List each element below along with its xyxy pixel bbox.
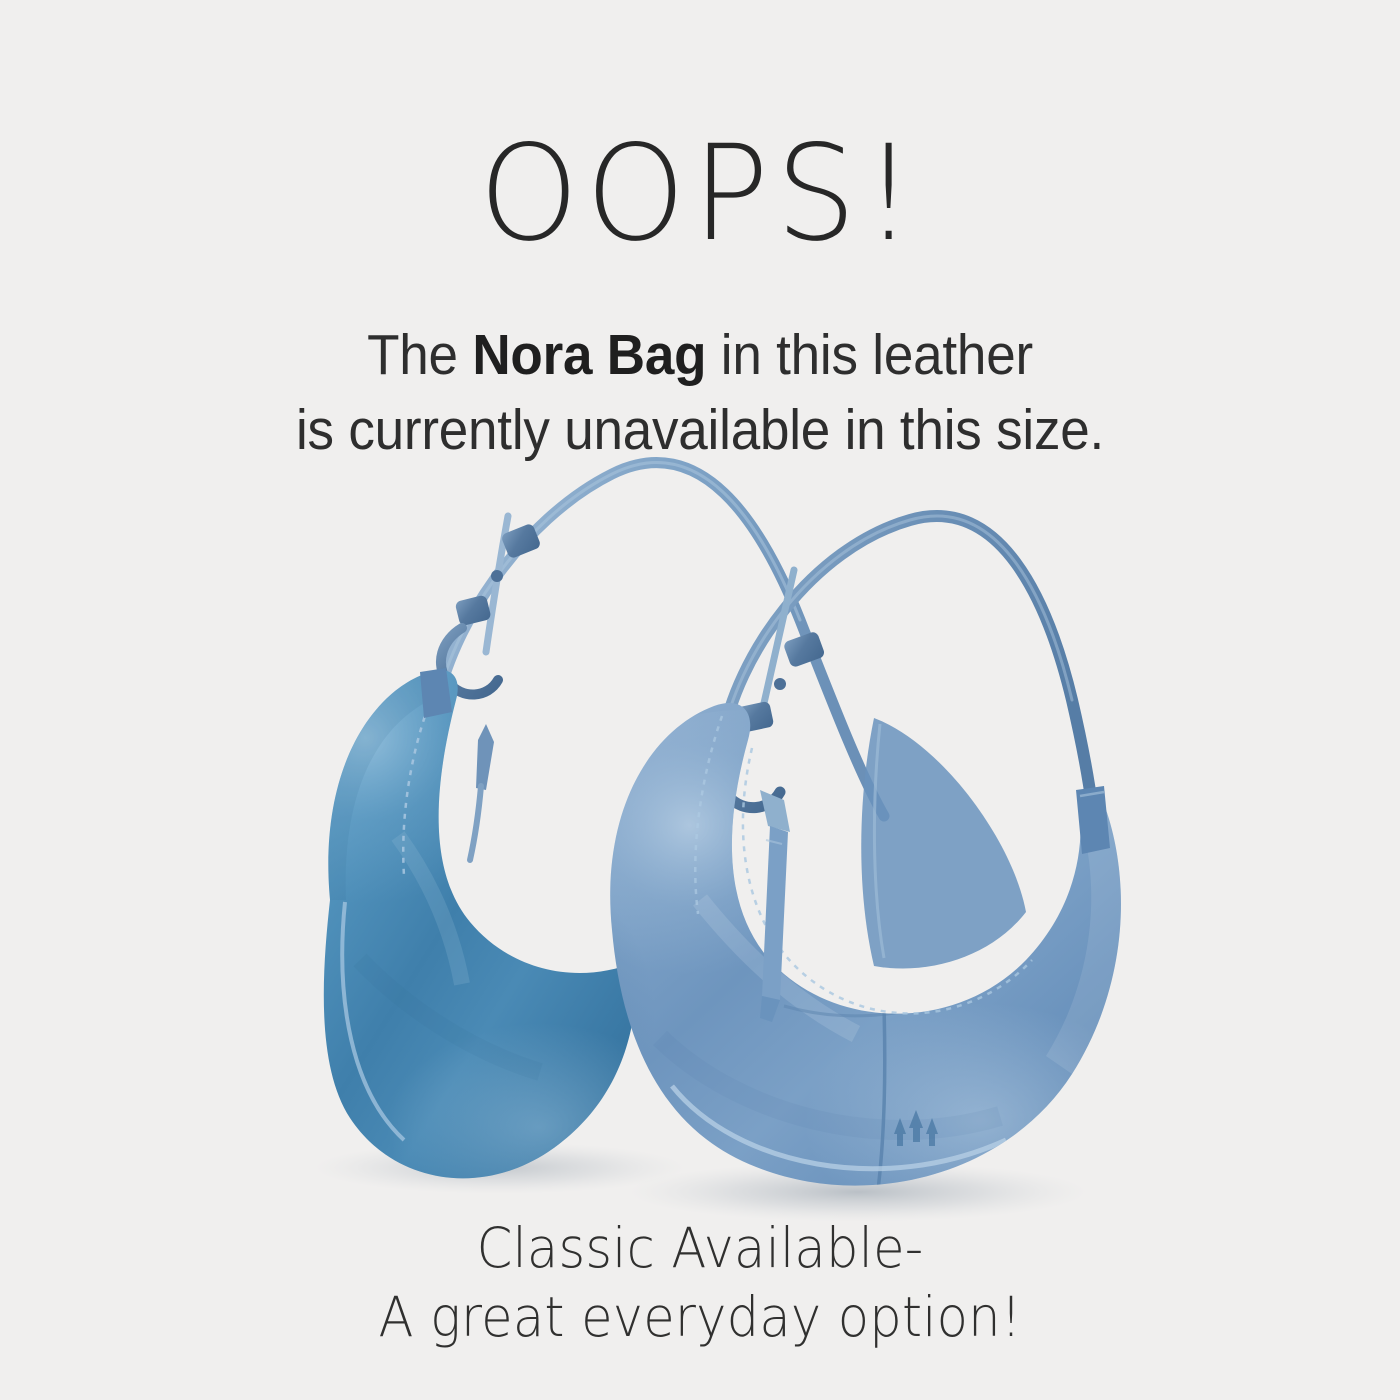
rear-strap-rivet	[491, 570, 503, 582]
alternative-suggestion-line-1: Classic Available-	[49, 1214, 1351, 1283]
product-name: Nora Bag	[472, 323, 706, 387]
rear-strap-keeper-upper	[500, 523, 541, 560]
front-strap-rivet	[774, 678, 786, 690]
page-title: OOPS!	[28, 128, 1372, 260]
availability-message-line-2: is currently unavailable in this size.	[49, 393, 1351, 468]
front-strap-hook-icon	[720, 736, 780, 808]
three-trees-logo-icon	[894, 1110, 938, 1146]
rear-strap-keeper-lower	[455, 594, 492, 626]
rear-strap-hook-icon	[441, 628, 498, 695]
front-strap-keeper-lower	[736, 701, 775, 734]
front-bag-opening-stitch	[743, 748, 1032, 1013]
rear-bag-strap	[434, 463, 884, 860]
alternative-suggestion-line-2: A great everyday option!	[49, 1283, 1351, 1352]
front-bag	[490, 516, 1140, 1210]
front-bag-strap	[716, 516, 1097, 872]
message-suffix: in this leather	[706, 323, 1033, 387]
error-page: OOPS! The Nora Bag in this leather is cu…	[0, 0, 1400, 1400]
rear-bag-edge-stitch	[403, 686, 436, 876]
rear-bag-body	[324, 670, 637, 1178]
message-prefix: The	[367, 323, 472, 387]
front-bag-body	[610, 703, 1121, 1186]
availability-message: The Nora Bag in this leather is currentl…	[49, 318, 1351, 468]
front-bag-center-seam	[878, 1008, 885, 1190]
rear-bag-strap-tab	[420, 668, 452, 718]
front-bag-zip-pull	[760, 790, 790, 1022]
alternative-suggestion: Classic Available- A great everyday opti…	[49, 1214, 1351, 1353]
availability-message-line-1: The Nora Bag in this leather	[49, 318, 1351, 393]
rear-bag-shadow	[314, 1142, 686, 1194]
front-bag-strap-tab	[1076, 786, 1110, 854]
rear-bag-pull-tab	[476, 724, 494, 790]
front-strap-keeper-upper	[783, 631, 826, 669]
front-bag-inner-panel	[861, 718, 1026, 969]
front-bag-shadow	[628, 1162, 1088, 1222]
rear-bag	[240, 463, 884, 1200]
